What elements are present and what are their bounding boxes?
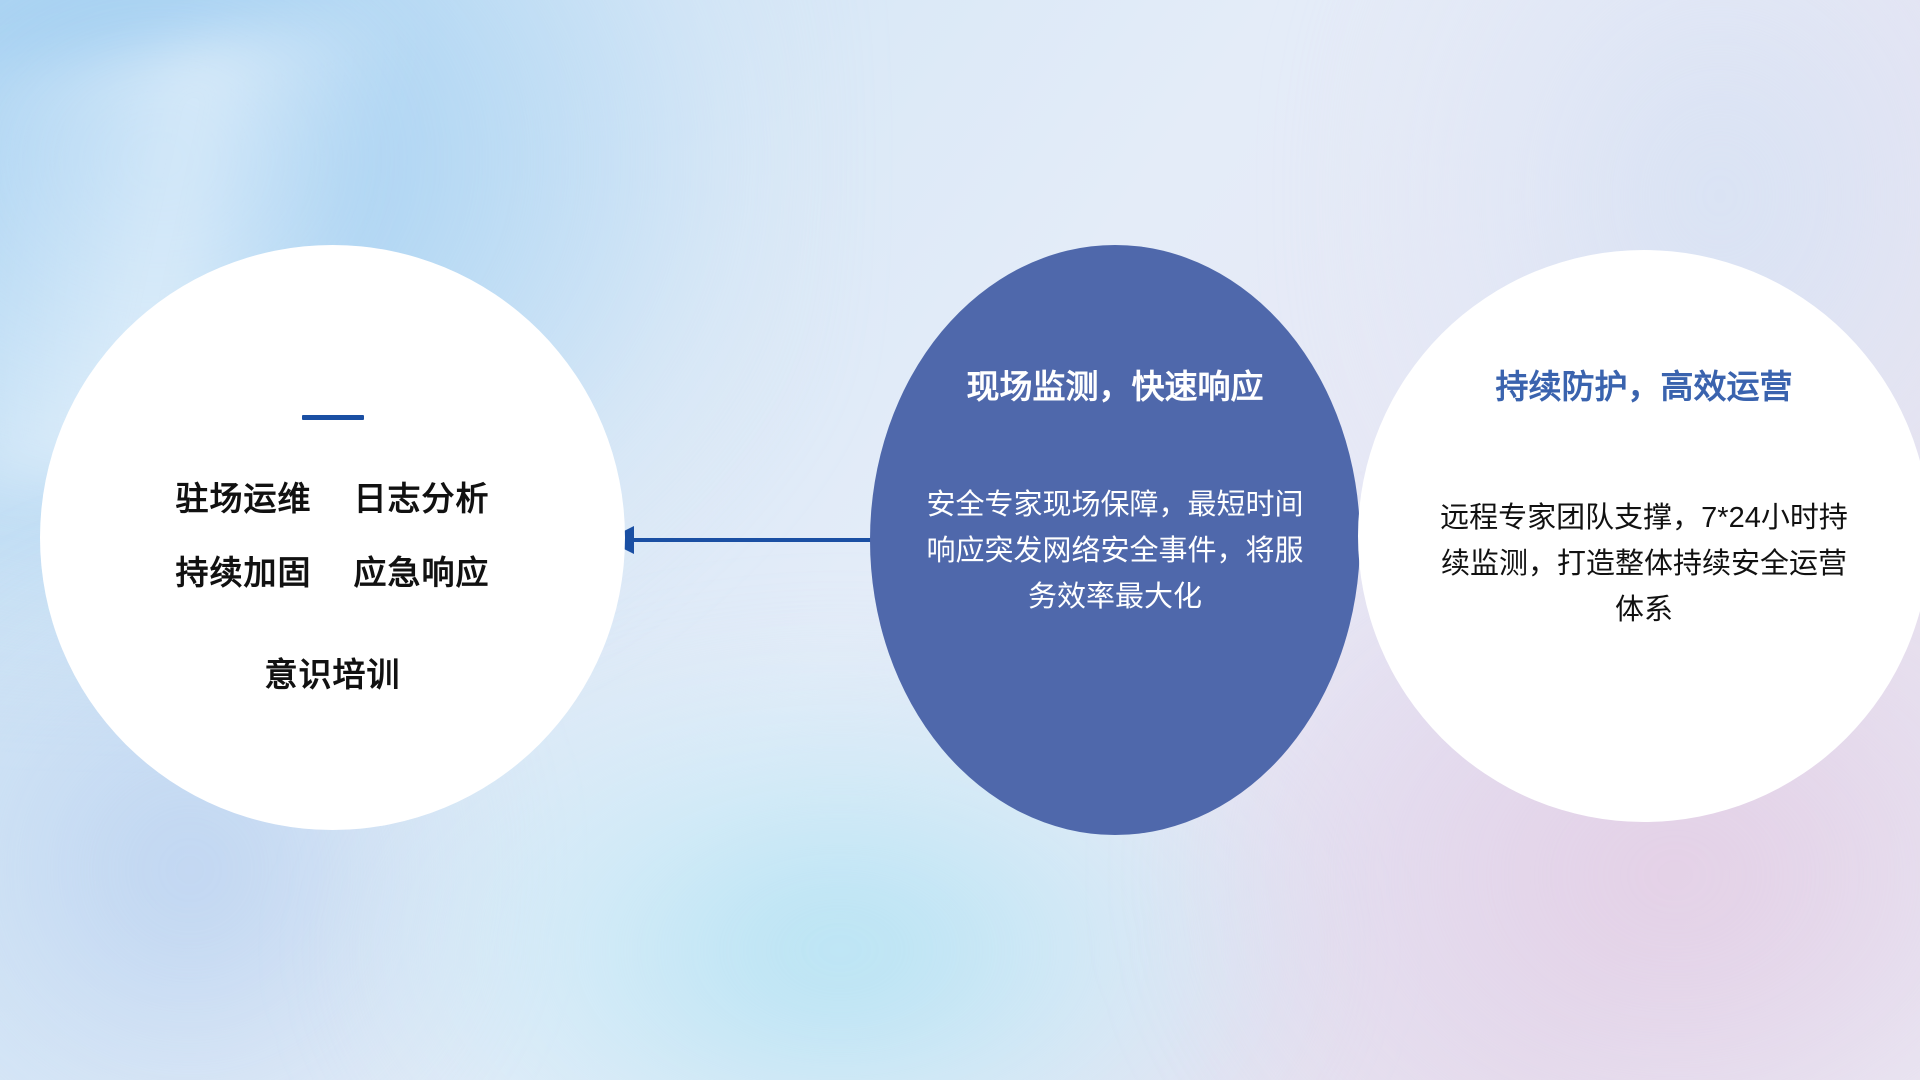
capabilities-circle[interactable]: 驻场运维 日志分析 持续加固 应急响应 意识培训 bbox=[40, 245, 625, 830]
continuous-protection-title: 持续防护，高效运营 bbox=[1496, 360, 1793, 408]
accent-dash-icon bbox=[302, 415, 364, 420]
capability-row: 驻场运维 日志分析 bbox=[176, 472, 490, 520]
slide-canvas: 驻场运维 日志分析 持续加固 应急响应 意识培训 现场监测，快速响应 安全专家现… bbox=[0, 0, 1920, 1080]
onsite-monitoring-title: 现场监测，快速响应 bbox=[967, 360, 1264, 408]
onsite-monitoring-content: 现场监测，快速响应 安全专家现场保障，最短时间响应突发网络安全事件，将服务效率最… bbox=[870, 245, 1360, 620]
onsite-monitoring-circle[interactable]: 现场监测，快速响应 安全专家现场保障，最短时间响应突发网络安全事件，将服务效率最… bbox=[870, 245, 1360, 835]
continuous-protection-circle[interactable]: 持续防护，高效运营 远程专家团队支撑，7*24小时持续监测，打造整体持续安全运营… bbox=[1358, 250, 1920, 822]
capability-row: 持续加固 应急响应 bbox=[176, 546, 490, 594]
capability-tag[interactable]: 驻场运维 bbox=[176, 472, 312, 520]
onsite-monitoring-body: 安全专家现场保障，最短时间响应突发网络安全事件，将服务效率最大化 bbox=[925, 483, 1305, 620]
capabilities-content: 驻场运维 日志分析 持续加固 应急响应 意识培训 bbox=[40, 245, 625, 722]
capability-tag[interactable]: 持续加固 bbox=[176, 546, 312, 594]
capability-tag[interactable]: 应急响应 bbox=[354, 546, 490, 594]
continuous-protection-content: 持续防护，高效运营 远程专家团队支撑，7*24小时持续监测，打造整体持续安全运营… bbox=[1358, 250, 1920, 633]
capability-row: 意识培训 bbox=[265, 648, 401, 696]
connector-arrow-icon bbox=[600, 500, 900, 580]
continuous-protection-body: 远程专家团队支撑，7*24小时持续监测，打造整体持续安全运营体系 bbox=[1434, 496, 1854, 633]
capability-tag[interactable]: 意识培训 bbox=[265, 648, 401, 696]
capability-tag[interactable]: 日志分析 bbox=[354, 472, 490, 520]
